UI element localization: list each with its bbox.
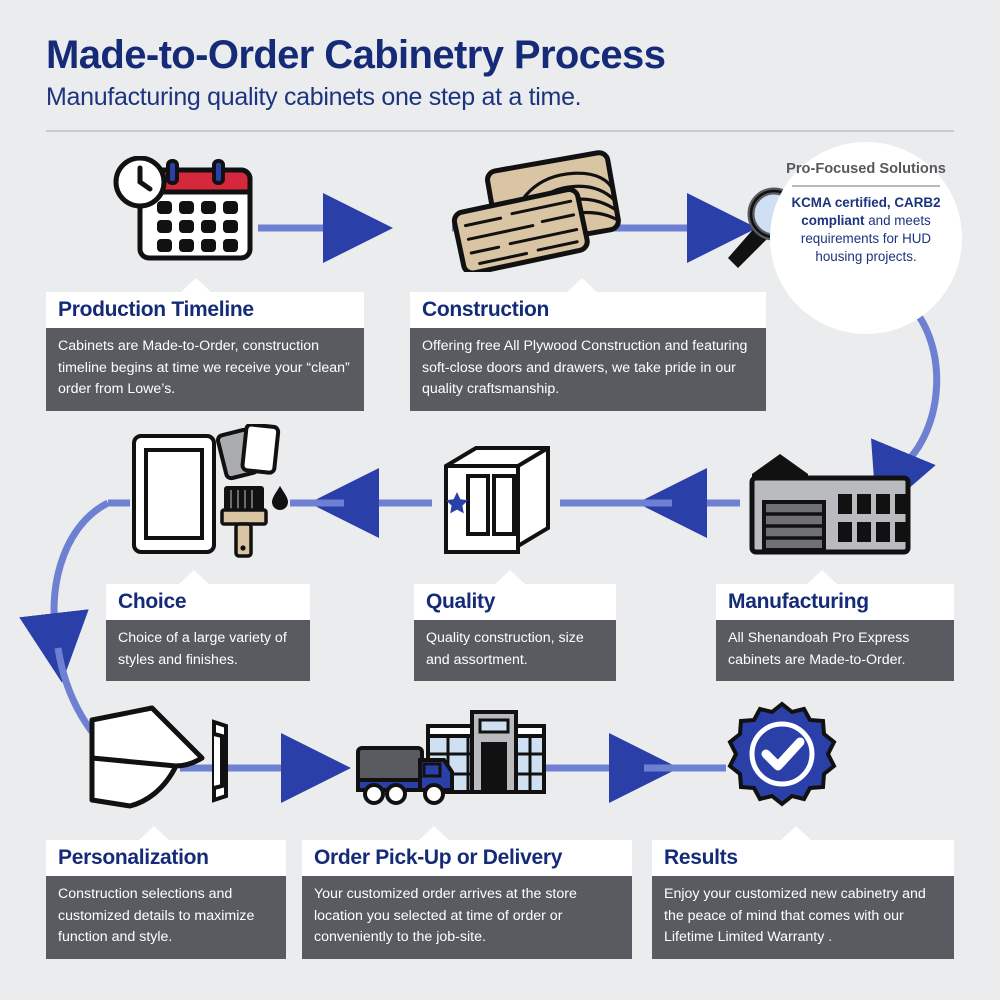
- callout-title: Pro-Focused Solutions: [786, 160, 946, 178]
- step-title: Manufacturing: [716, 584, 954, 620]
- step-card-order-pickup-or-delivery[interactable]: Order Pick-Up or Delivery Your customize…: [302, 840, 632, 959]
- card-pointer: [566, 278, 598, 293]
- truck-store-icon: [352, 702, 548, 812]
- paint-brush: [222, 486, 266, 556]
- step-body: Enjoy your customized new cabinetry and …: [652, 876, 954, 959]
- card-pointer: [180, 278, 212, 293]
- plywood-boards-icon: [444, 146, 644, 272]
- card-pointer: [494, 570, 526, 585]
- step-body: Your customized order arrives at the sto…: [302, 876, 632, 959]
- calendar-clock-icon: [104, 156, 264, 272]
- card-pointer: [780, 826, 812, 841]
- step-title: Quality: [414, 584, 616, 620]
- step-card-quality[interactable]: Quality Quality construction, size and a…: [414, 584, 616, 681]
- step-card-construction[interactable]: Construction Offering free All Plywood C…: [410, 292, 766, 411]
- step-body: Construction selections and customized d…: [46, 876, 286, 959]
- step-title: Order Pick-Up or Delivery: [302, 840, 632, 876]
- step-title: Construction: [410, 292, 766, 328]
- step-card-production-timeline[interactable]: Production Timeline Cabinets are Made-to…: [46, 292, 364, 411]
- step-title: Results: [652, 840, 954, 876]
- step-body: All Shenandoah Pro Express cabinets are …: [716, 620, 954, 681]
- callout-body: KCMA certified, CARB2 compliant and meet…: [780, 194, 952, 266]
- step-title: Personalization: [46, 840, 286, 876]
- step-body: Choice of a large variety of styles and …: [106, 620, 310, 681]
- cabinet-star-icon: [436, 444, 558, 556]
- pro-focused-solutions-callout: Pro-Focused Solutions KCMA certified, CA…: [770, 142, 962, 334]
- step-card-choice[interactable]: Choice Choice of a large variety of styl…: [106, 584, 310, 681]
- step-card-personalization[interactable]: Personalization Construction selections …: [46, 840, 286, 959]
- step-card-manufacturing[interactable]: Manufacturing All Shenandoah Pro Express…: [716, 584, 954, 681]
- infographic-canvas: Made-to-Order Cabinetry Process Manufact…: [0, 0, 1000, 1000]
- card-pointer: [178, 570, 210, 585]
- step-body: Offering free All Plywood Construction a…: [410, 328, 766, 411]
- card-pointer: [418, 826, 450, 841]
- factory-icon: [744, 452, 916, 558]
- step-body: Quality construction, size and assortmen…: [414, 620, 616, 681]
- checkmark-badge-icon: [726, 700, 838, 812]
- step-body: Cabinets are Made-to-Order, construction…: [46, 328, 364, 411]
- card-pointer: [138, 826, 170, 841]
- callout-divider: [792, 185, 940, 187]
- paint-swatch-brush-icon: [126, 424, 296, 560]
- card-pointer: [806, 570, 838, 585]
- callout-bold-1: KCMA certified,: [791, 195, 890, 210]
- step-title: Production Timeline: [46, 292, 364, 328]
- step-card-results[interactable]: Results Enjoy your customized new cabine…: [652, 840, 954, 959]
- molding-handle-icon: [86, 704, 246, 812]
- step-title: Choice: [106, 584, 310, 620]
- cabinet-pull-handle: [214, 722, 226, 800]
